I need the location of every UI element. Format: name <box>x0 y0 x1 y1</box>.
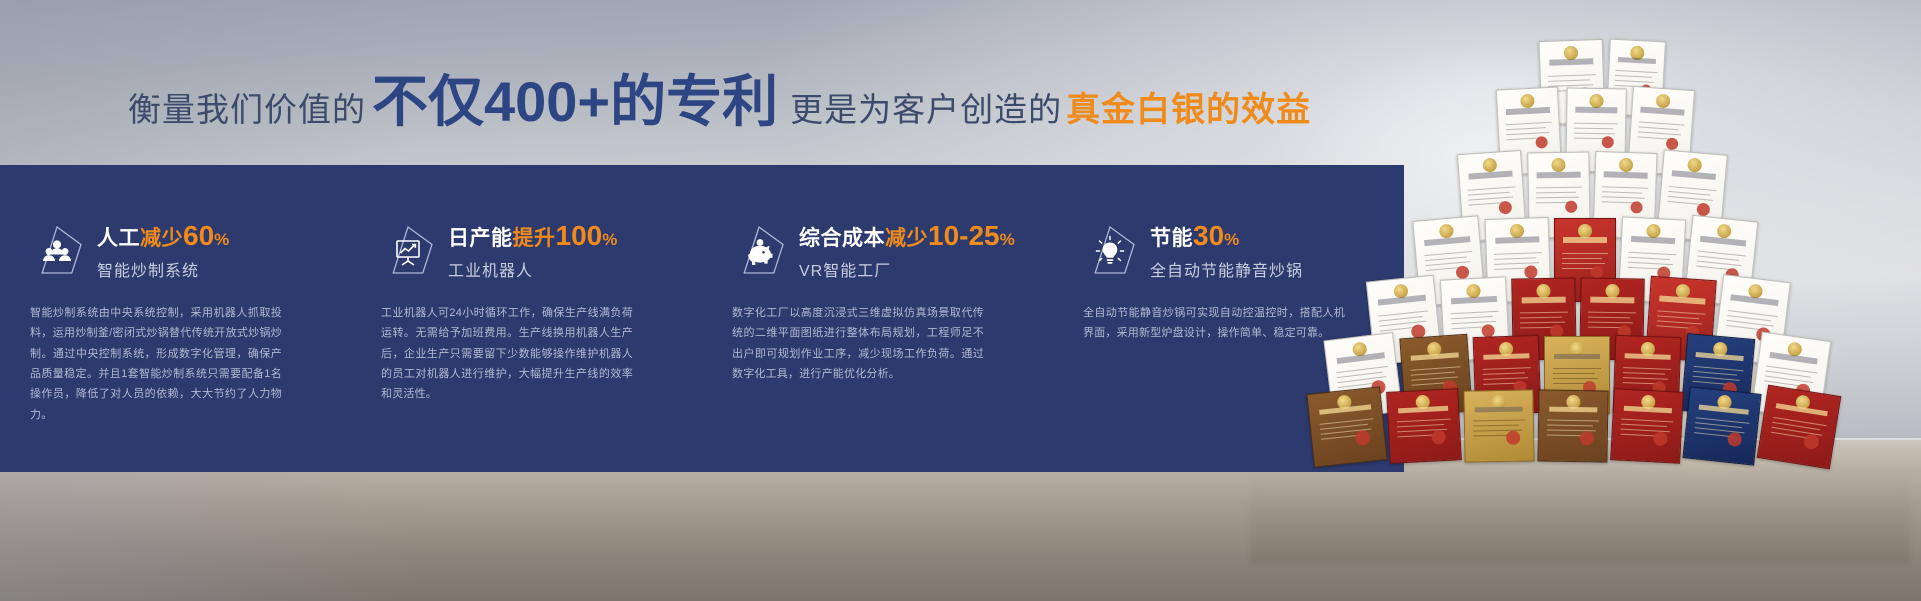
feature-text: 综合成本减少10-25%VR智能工厂 <box>799 221 1015 281</box>
feature-description: 智能炒制系统由中央系统控制，采用机器人抓取投料，运用炒制釜/密闭式炒锅替代传统开… <box>30 303 282 425</box>
feature-title-number: 10-25 <box>928 220 1000 251</box>
feature-title-accent: 减少 <box>885 227 928 250</box>
feature-title: 节能30% <box>1150 221 1303 250</box>
certificate-plaque <box>1463 389 1534 462</box>
piggy-bank-icon <box>732 224 786 278</box>
headline-prefix: 衡量我们价值的 <box>128 83 366 131</box>
feature-text: 节能30%全自动节能静音炒锅 <box>1150 221 1303 281</box>
headline-highlight: 真金白银的效益 <box>1062 82 1311 131</box>
certificate-plaque <box>1757 385 1842 470</box>
feature-item-2: 日产能提升100%工业机器人工业机器人可24小时循环工作，确保生产线满负荷运转。… <box>351 220 702 472</box>
page-title: 衡量我们价值的 不仅400+的专利 更是为客户创造的 真金白银的效益 <box>128 74 1311 142</box>
feature-title-accent: 提升 <box>513 227 556 250</box>
feature-text: 日产能提升100%工业机器人 <box>448 221 617 281</box>
feature-title-plain: 日产能 <box>448 227 513 250</box>
feature-list: 人工减少60%智能炒制系统智能炒制系统由中央系统控制，采用机器人抓取投料，运用炒… <box>0 165 1404 472</box>
feature-title: 日产能提升100% <box>448 221 617 250</box>
feature-title: 综合成本减少10-25% <box>799 221 1015 250</box>
feature-subtitle: VR智能工厂 <box>799 257 1015 281</box>
feature-title-accent: 减少 <box>140 227 183 250</box>
feature-title-unit: % <box>602 230 617 249</box>
certificate-plaque <box>1610 388 1684 464</box>
feature-title-plain: 人工 <box>97 227 140 250</box>
headline-emphasis: 不仅400+的专利 <box>366 74 784 130</box>
feature-title-unit: % <box>1224 230 1239 249</box>
feature-title-number: 100 <box>556 220 603 251</box>
lightbulb-icon <box>1083 224 1137 278</box>
certificate-plaque <box>1306 386 1387 467</box>
feature-item-3: 综合成本减少10-25%VR智能工厂数字化工厂以高度沉浸式三维虚拟仿真场景取代传… <box>702 220 1053 472</box>
certificate-plaque <box>1682 386 1761 465</box>
feature-subtitle: 智能炒制系统 <box>97 257 229 281</box>
feature-title-number: 30 <box>1193 220 1224 251</box>
feature-title-plain: 综合成本 <box>799 227 885 250</box>
feature-title-unit: % <box>214 230 229 249</box>
feature-panel: 人工减少60%智能炒制系统智能炒制系统由中央系统控制，采用机器人抓取投料，运用炒… <box>0 165 1404 472</box>
feature-header: 日产能提升100%工业机器人 <box>381 220 674 282</box>
feature-title-unit: % <box>1000 230 1015 249</box>
people-group-icon <box>30 224 84 278</box>
feature-header: 人工减少60%智能炒制系统 <box>30 220 323 282</box>
certificate-plaque <box>1386 388 1462 464</box>
certificate-plaque <box>1537 389 1608 462</box>
feature-subtitle: 全自动节能静音炒锅 <box>1150 257 1303 281</box>
feature-title-number: 60 <box>183 220 214 251</box>
feature-text: 人工减少60%智能炒制系统 <box>97 221 229 281</box>
headline-middle: 更是为客户创造的 <box>784 83 1062 131</box>
feature-description: 工业机器人可24小时循环工作，确保生产线满负荷运转。无需给予加班费用。生产线换用… <box>381 303 633 405</box>
feature-title: 人工减少60% <box>97 221 229 250</box>
collage-reflection <box>1250 470 1910 565</box>
feature-subtitle: 工业机器人 <box>448 257 617 281</box>
feature-header: 综合成本减少10-25%VR智能工厂 <box>732 220 1025 282</box>
chart-board-icon <box>381 224 435 278</box>
feature-description: 全自动节能静音炒锅可实现自动控温控时，搭配人机界面，采用新型炉盘设计，操作简单、… <box>1083 303 1345 344</box>
feature-title-plain: 节能 <box>1150 227 1193 250</box>
feature-item-1: 人工减少60%智能炒制系统智能炒制系统由中央系统控制，采用机器人抓取投料，运用炒… <box>0 220 351 472</box>
feature-description: 数字化工厂以高度沉浸式三维虚拟仿真场景取代传统的二维平面图纸进行整体布局规划，工… <box>732 303 984 384</box>
feature-header: 节能30%全自动节能静音炒锅 <box>1083 220 1376 282</box>
